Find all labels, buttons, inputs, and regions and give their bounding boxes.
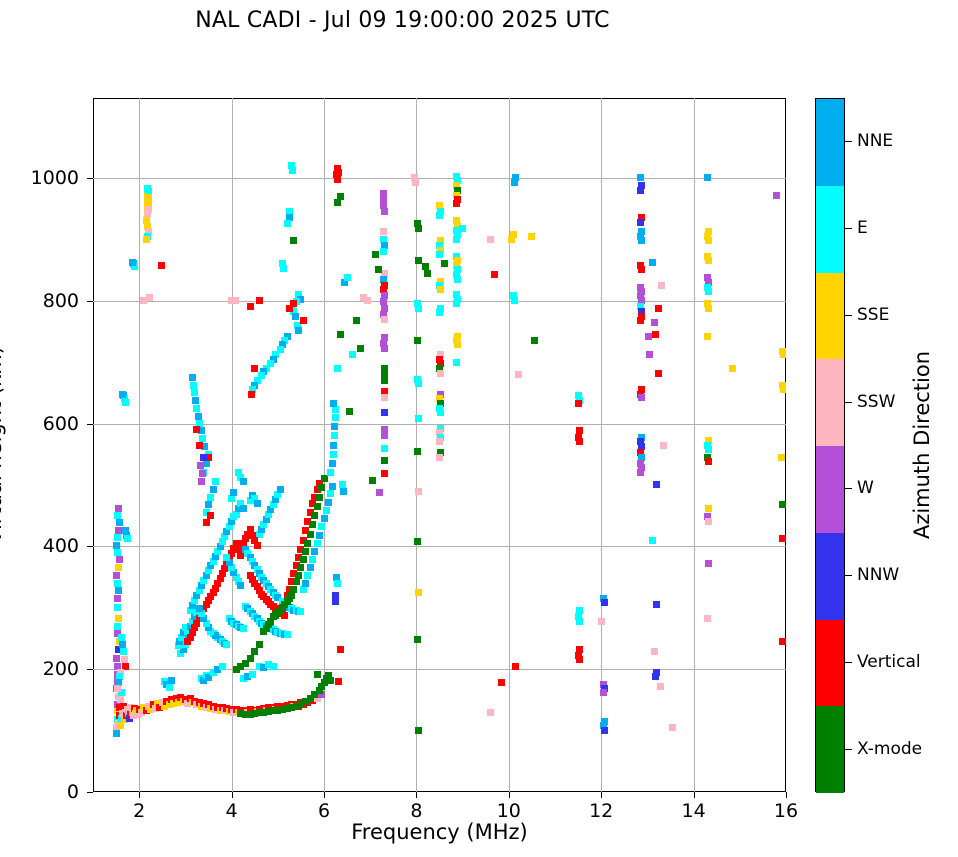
scatter-point <box>512 663 519 670</box>
scatter-point <box>575 400 582 407</box>
scatter-point <box>346 408 353 415</box>
scatter-point <box>498 679 505 686</box>
scatter-point <box>436 251 443 258</box>
scatter-point <box>415 225 422 232</box>
scatter-point <box>652 673 659 680</box>
scatter-point <box>453 236 460 243</box>
scatter-point <box>327 469 334 476</box>
colorbar-title: Azimuth Direction <box>910 351 934 539</box>
scatter-point <box>779 638 786 645</box>
scatter-point <box>219 663 226 670</box>
colorbar-segment-nnw <box>816 533 844 620</box>
colorbar-tick <box>845 141 852 142</box>
scatter-point <box>116 556 123 563</box>
scatter-point <box>436 454 443 461</box>
scatter-point <box>191 389 198 396</box>
colorbar-label-nne: NNE <box>857 131 893 151</box>
scatter-point <box>270 663 277 670</box>
scatter-point <box>381 432 388 439</box>
x-axis-tick-label: 12 <box>589 800 613 822</box>
scatter-point <box>637 187 644 194</box>
scatter-point <box>333 171 340 178</box>
y-axis-tick <box>87 178 93 179</box>
scatter-point <box>576 618 583 625</box>
x-axis-tick <box>324 792 325 798</box>
scatter-point <box>511 297 518 304</box>
scatter-point <box>441 260 448 267</box>
scatter-point <box>332 414 339 421</box>
scatter-point <box>773 192 780 199</box>
scatter-point <box>114 595 121 602</box>
colorbar-segment-ssw <box>816 359 844 446</box>
x-axis-tick <box>509 792 510 798</box>
scatter-point <box>284 220 291 227</box>
scatter-point <box>330 451 337 458</box>
scatter-point <box>140 297 147 304</box>
scatter-point <box>129 259 136 266</box>
colorbar-tick <box>845 315 852 316</box>
colorbar-label-sse: SSE <box>857 305 889 325</box>
scatter-point <box>705 458 712 465</box>
scatter-point <box>290 586 297 593</box>
scatter-point <box>705 518 712 525</box>
scatter-point <box>248 391 255 398</box>
scatter-point <box>277 486 284 493</box>
scatter-point <box>251 365 258 372</box>
scatter-point <box>436 309 443 316</box>
scatter-point <box>651 319 658 326</box>
scatter-point <box>601 599 608 606</box>
scatter-point <box>424 270 431 277</box>
scatter-point <box>531 337 538 344</box>
y-axis-tick <box>87 669 93 670</box>
scatter-point <box>649 259 656 266</box>
scatter-point <box>195 413 202 420</box>
y-axis-tick-label: 800 <box>43 290 79 312</box>
scatter-point <box>233 666 240 673</box>
scatter-point <box>705 505 712 512</box>
scatter-point <box>290 300 297 307</box>
scatter-point <box>114 685 121 692</box>
scatter-point <box>652 331 659 338</box>
scatter-point <box>360 294 367 301</box>
scatter-point <box>415 589 422 596</box>
colorbar-tick <box>845 575 852 576</box>
scatter-point <box>193 405 200 412</box>
scatter-point <box>487 709 494 716</box>
scatter-point <box>114 604 121 611</box>
scatter-point <box>381 409 388 416</box>
scatter-point <box>658 282 665 289</box>
scatter-point <box>300 586 307 593</box>
scatter-point <box>453 359 460 366</box>
scatter-point <box>230 489 237 496</box>
ionogram-plot: 24681012141602004006008001000 <box>93 98 786 792</box>
scatter-point <box>511 179 518 186</box>
scatter-point <box>143 236 150 243</box>
scatter-point <box>192 397 199 404</box>
scatter-point <box>337 331 344 338</box>
scatter-point <box>414 636 421 643</box>
scatter-point <box>300 317 307 324</box>
scatter-point <box>114 534 121 541</box>
x-axis-tick <box>786 792 787 798</box>
scatter-point <box>145 206 152 213</box>
scatter-point <box>778 454 785 461</box>
scatter-point <box>637 174 644 181</box>
scatter-point <box>233 511 240 518</box>
scatter-point <box>314 540 321 547</box>
scatter-point <box>295 327 302 334</box>
scatter-point <box>453 200 460 207</box>
colorbar-label-x-mode: X-mode <box>857 739 922 759</box>
scatter-point <box>332 406 339 413</box>
scatter-point <box>415 727 422 734</box>
scatter-point <box>704 333 711 340</box>
x-axis-tick <box>232 792 233 798</box>
scatter-point <box>330 442 337 449</box>
scatter-point <box>325 499 332 506</box>
scatter-point <box>653 481 660 488</box>
scatter-point <box>437 286 444 293</box>
scatter-point <box>437 409 444 416</box>
scatter-point <box>651 648 658 655</box>
x-axis-tick-label: 16 <box>774 800 798 822</box>
scatter-point <box>198 478 205 485</box>
scatter-point <box>381 470 388 477</box>
scatter-point <box>380 228 387 235</box>
y-axis-tick <box>87 301 93 302</box>
scatter-point <box>240 505 247 512</box>
scatter-point <box>779 535 786 542</box>
scatter-point <box>669 724 676 731</box>
scatter-point <box>302 580 309 587</box>
scatter-point <box>199 470 206 477</box>
scatter-point <box>491 271 498 278</box>
y-axis-tick-label: 0 <box>67 781 79 803</box>
scatter-point <box>277 607 284 614</box>
scatter-point <box>119 391 126 398</box>
scatter-point <box>316 494 323 501</box>
scatter-point <box>237 552 244 559</box>
scatter-point <box>327 677 334 684</box>
y-axis-tick-label: 1000 <box>31 167 79 189</box>
scatter-point <box>705 446 712 453</box>
scatter-point <box>381 316 388 323</box>
scatter-point <box>415 415 422 422</box>
scatter-point <box>705 257 712 264</box>
scatter-point <box>119 641 126 648</box>
x-axis-title: Frequency (MHz) <box>93 820 786 844</box>
scatter-point <box>638 394 645 401</box>
scatter-point <box>113 655 120 662</box>
scatter-point <box>290 237 297 244</box>
colorbar-segment-w <box>816 446 844 533</box>
scatter-point <box>189 374 196 381</box>
scatter-point <box>344 274 351 281</box>
colorbar-tick <box>845 402 852 403</box>
scatter-point <box>655 370 662 377</box>
scatter-points-layer <box>93 98 786 792</box>
scatter-point <box>122 399 129 406</box>
y-axis-tick <box>87 546 93 547</box>
scatter-point <box>327 490 334 497</box>
scatter-point <box>117 722 124 729</box>
scatter-point <box>334 580 341 587</box>
x-axis-tick <box>601 792 602 798</box>
x-axis-tick <box>416 792 417 798</box>
scatter-point <box>120 648 127 655</box>
scatter-point <box>267 618 274 625</box>
x-axis-tick-label: 2 <box>133 800 145 822</box>
scatter-point <box>705 560 712 567</box>
colorbar-segment-vertical <box>816 620 844 707</box>
scatter-point <box>436 438 443 445</box>
x-axis-tick-label: 14 <box>682 800 706 822</box>
scatter-point <box>321 475 328 482</box>
colorbar-label-e: E <box>857 218 868 238</box>
scatter-point <box>729 365 736 372</box>
scatter-point <box>223 554 230 561</box>
scatter-point <box>318 523 325 530</box>
scatter-point <box>331 432 338 439</box>
scatter-point <box>332 592 339 599</box>
colorbar-tick <box>845 749 852 750</box>
scatter-point <box>329 483 336 490</box>
scatter-point <box>114 580 121 587</box>
scatter-point <box>454 341 461 348</box>
scatter-point <box>331 423 338 430</box>
colorbar-label-w: W <box>857 478 874 498</box>
scatter-point <box>453 300 460 307</box>
scatter-point <box>330 400 337 407</box>
scatter-point <box>380 248 387 255</box>
scatter-point <box>353 317 360 324</box>
y-axis-tick <box>87 424 93 425</box>
colorbar-segment-e <box>816 186 844 273</box>
scatter-point <box>115 505 122 512</box>
scatter-point <box>638 237 645 244</box>
scatter-point <box>598 618 605 625</box>
scatter-point <box>436 212 443 219</box>
colorbar-tick <box>845 228 852 229</box>
scatter-point <box>307 531 314 538</box>
scatter-point <box>638 266 645 273</box>
scatter-point <box>292 313 299 320</box>
scatter-point <box>653 601 660 608</box>
colorbar-label-nnw: NNW <box>857 565 899 585</box>
scatter-point <box>297 608 304 615</box>
scatter-point <box>284 631 291 638</box>
scatter-point <box>205 501 212 508</box>
scatter-point <box>576 656 583 663</box>
scatter-point <box>309 521 316 528</box>
scatter-point <box>357 345 364 352</box>
y-axis-title: Virtual height (km) <box>0 346 6 544</box>
scatter-point <box>302 548 309 555</box>
scatter-point <box>232 297 239 304</box>
y-axis-tick-label: 600 <box>43 413 79 435</box>
scatter-point <box>304 540 311 547</box>
scatter-point <box>249 671 256 678</box>
scatter-point <box>637 317 644 324</box>
y-axis-tick-label: 400 <box>43 535 79 557</box>
scatter-point <box>168 677 175 684</box>
x-axis-tick-label: 6 <box>318 800 330 822</box>
scatter-point <box>372 251 379 258</box>
colorbar-label-ssw: SSW <box>857 392 895 412</box>
y-axis-tick <box>87 792 93 793</box>
scatter-point <box>508 236 515 243</box>
y-axis-tick-label: 200 <box>43 658 79 680</box>
scatter-point <box>314 671 321 678</box>
scatter-point <box>113 730 120 737</box>
scatter-point <box>247 303 254 310</box>
scatter-point <box>280 265 287 272</box>
colorbar-tick <box>845 662 852 663</box>
scatter-point <box>454 276 461 283</box>
scatter-point <box>289 167 296 174</box>
scatter-point <box>705 237 712 244</box>
x-axis-tick <box>694 792 695 798</box>
scatter-point <box>309 556 316 563</box>
scatter-point <box>381 394 388 401</box>
x-axis-tick-label: 8 <box>410 800 422 822</box>
colorbar-tick <box>845 488 852 489</box>
scatter-point <box>332 598 339 605</box>
page-title: NAL CADI - Jul 09 19:00:00 2025 UTC <box>0 8 805 33</box>
scatter-point <box>376 489 383 496</box>
scatter-point <box>349 351 356 358</box>
scatter-point <box>412 179 419 186</box>
scatter-point <box>415 380 422 387</box>
scatter-point <box>295 572 302 579</box>
scatter-point <box>237 582 244 589</box>
scatter-point <box>415 305 422 312</box>
scatter-point <box>254 542 261 549</box>
scatter-point <box>115 564 122 571</box>
scatter-point <box>576 438 583 445</box>
scatter-point <box>297 564 304 571</box>
scatter-point <box>414 538 421 545</box>
scatter-point <box>300 556 307 563</box>
scatter-point <box>203 460 210 467</box>
scatter-point <box>318 484 325 491</box>
scatter-point <box>334 199 341 206</box>
colorbar-segment-nne <box>816 99 844 186</box>
scatter-point <box>228 495 235 502</box>
scatter-point <box>337 646 344 653</box>
scatter-point <box>207 494 214 501</box>
scatter-point <box>122 527 129 534</box>
scatter-point <box>240 625 247 632</box>
scatter-point <box>114 512 121 519</box>
scatter-point <box>381 377 388 384</box>
scatter-point <box>197 462 204 469</box>
scatter-point <box>321 515 328 522</box>
scatter-point <box>601 727 608 734</box>
x-axis-tick <box>139 792 140 798</box>
scatter-point <box>286 595 293 602</box>
scatter-point <box>779 501 786 508</box>
scatter-point <box>415 488 422 495</box>
scatter-point <box>311 512 318 519</box>
scatter-point <box>414 337 421 344</box>
scatter-point <box>515 371 522 378</box>
scatter-point <box>334 365 341 372</box>
scatter-point <box>705 305 712 312</box>
scatter-point <box>704 174 711 181</box>
scatter-point <box>196 442 203 449</box>
scatter-point <box>314 503 321 510</box>
colorbar-label-vertical: Vertical <box>857 652 921 672</box>
scatter-point <box>203 519 210 526</box>
x-axis-tick-label: 4 <box>226 800 238 822</box>
scatter-point <box>381 208 388 215</box>
scatter-point <box>381 345 388 352</box>
scatter-point <box>235 469 242 476</box>
scatter-point <box>304 572 311 579</box>
scatter-point <box>780 386 786 393</box>
scatter-point <box>254 500 261 507</box>
scatter-point <box>528 233 535 240</box>
scatter-point <box>335 678 342 685</box>
scatter-point <box>487 236 494 243</box>
scatter-point <box>375 266 382 273</box>
scatter-point <box>637 469 644 476</box>
scatter-point <box>196 605 203 612</box>
colorbar <box>815 98 845 792</box>
scatter-point <box>114 549 121 556</box>
scatter-point <box>118 634 125 641</box>
scatter-point <box>705 288 712 295</box>
scatter-point <box>381 445 388 452</box>
scatter-point <box>637 219 644 226</box>
scatter-point <box>329 460 336 467</box>
scatter-point <box>645 333 652 340</box>
scatter-point <box>414 448 421 455</box>
scatter-point <box>240 478 247 485</box>
scatter-point <box>369 477 376 484</box>
colorbar-segment-x-mode <box>816 706 844 793</box>
scatter-point <box>210 486 217 493</box>
scatter-point <box>704 615 711 622</box>
scatter-point <box>190 382 197 389</box>
scatter-point <box>193 426 200 433</box>
scatter-point <box>115 587 122 594</box>
scatter-point <box>166 684 173 691</box>
scatter-point <box>646 351 653 358</box>
scatter-point <box>212 478 219 485</box>
colorbar-segment-sse <box>816 273 844 360</box>
scatter-point <box>311 548 318 555</box>
scatter-point <box>113 542 120 549</box>
scatter-point <box>340 488 347 495</box>
scatter-point <box>200 454 207 461</box>
scatter-point <box>223 641 230 648</box>
scatter-point <box>655 305 662 312</box>
scatter-point <box>657 683 664 690</box>
scatter-point <box>316 532 323 539</box>
scatter-point <box>256 297 263 304</box>
scatter-point <box>115 615 122 622</box>
scatter-point <box>158 262 165 269</box>
scatter-point <box>459 225 466 232</box>
scatter-point <box>381 457 388 464</box>
scatter-point <box>437 370 444 377</box>
scatter-point <box>293 578 300 585</box>
scatter-point <box>256 641 263 648</box>
